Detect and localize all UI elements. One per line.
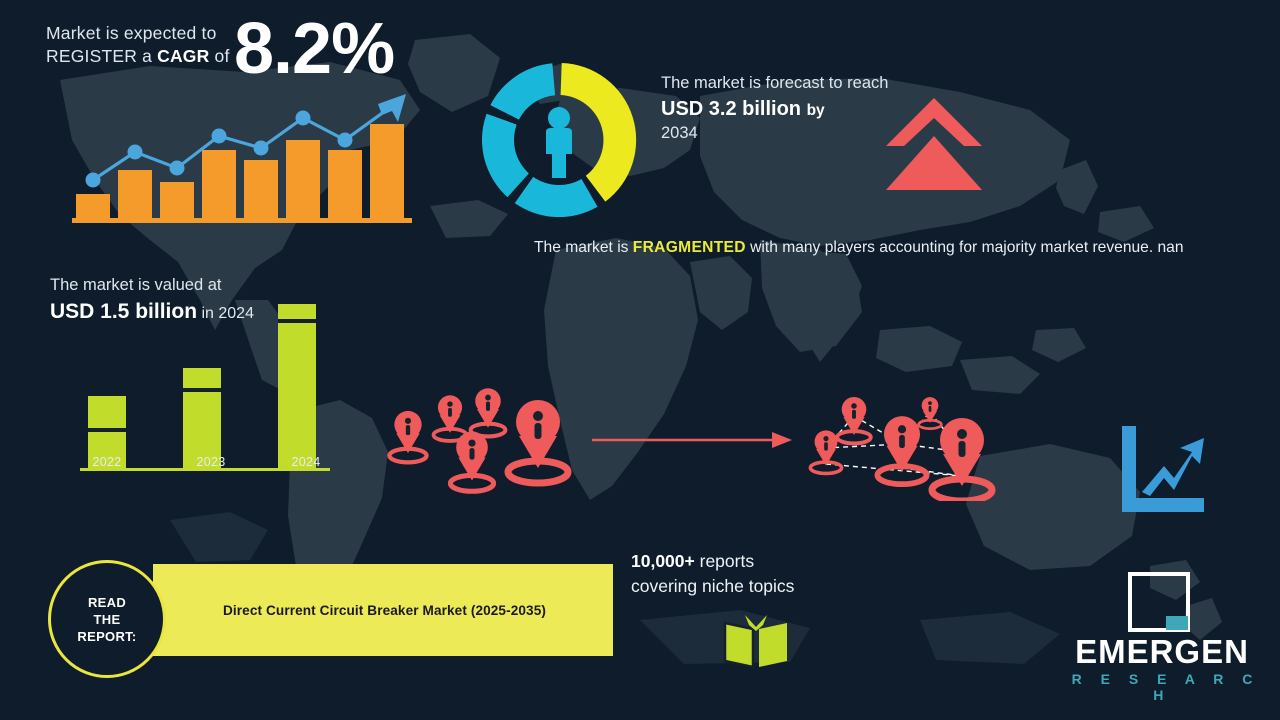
cagr-keyword: CAGR <box>157 46 209 66</box>
bar-2024-divider <box>278 319 316 323</box>
forecast-value-suffix: by <box>807 102 825 119</box>
bar-label-2022: 2022 <box>84 455 130 469</box>
map-pin-person-icon <box>434 395 467 441</box>
map-pin-person-icon <box>508 400 568 483</box>
fragmented-pre: The market is <box>534 239 633 256</box>
bar-2024 <box>278 304 316 468</box>
fragmented-statement: The market is FRAGMENTED with many playe… <box>534 236 1206 259</box>
valued-lead: The market is valued at <box>50 274 380 296</box>
double-chevron-up-icon <box>884 96 984 192</box>
cagr-lead-line2-post: of <box>209 46 229 66</box>
growth-baseline <box>72 218 412 223</box>
forecast-value: USD 3.2 billion by <box>661 97 901 123</box>
infographic-canvas: Market is expected to REGISTER a CAGR of… <box>0 0 1280 720</box>
map-pin-person-icon <box>932 418 992 501</box>
cta-line3: REPORT: <box>77 629 136 644</box>
open-book-icon <box>723 613 789 669</box>
bar-2022-divider <box>88 428 126 432</box>
cagr-value: 8.2% <box>234 6 394 92</box>
bar-label-2024: 2024 <box>283 455 329 469</box>
green-bars <box>88 304 316 468</box>
cagr-lead-line1: Market is expected to <box>46 23 217 43</box>
growth-arrow-head <box>378 94 406 122</box>
person-icon <box>546 107 572 178</box>
bar-2023-divider <box>183 388 221 392</box>
read-report-cta[interactable]: Direct Current Circuit Breaker Market (2… <box>48 560 564 660</box>
green-yearly-value-chart <box>80 296 330 476</box>
fragmented-highlight: FRAGMENTED <box>633 239 746 256</box>
forecast-lead: The market is forecast to reach <box>661 72 901 94</box>
donut-segment-cyan-1 <box>515 177 598 217</box>
cagr-lead-line2-pre: REGISTER a <box>46 46 157 66</box>
line-chart-arrow-icon <box>1118 424 1206 516</box>
map-pin-person-icon <box>471 388 506 436</box>
logo-subtitle: R E S E A R C H <box>1062 671 1262 703</box>
reports-count-block: 10,000+ reports covering niche topics <box>631 549 881 599</box>
map-pin-person-icon <box>837 397 871 443</box>
emergen-research-logo: EMERGEN R E S E A R C H <box>1062 572 1262 698</box>
reports-line1-rest: reports <box>695 551 754 571</box>
donut-segment-cyan-2 <box>482 114 529 198</box>
reports-count: 10,000+ <box>631 551 695 571</box>
fragmented-post: with many players accounting for majorit… <box>746 239 1184 256</box>
cta-line1: READ <box>88 595 126 610</box>
reports-line2: covering niche topics <box>631 574 881 599</box>
donut-segment-cyan-3 <box>490 63 555 119</box>
cagr-lead-text: Market is expected to REGISTER a CAGR of <box>46 22 246 68</box>
map-pin-cluster-right <box>806 386 1006 501</box>
bar-2023 <box>183 368 221 468</box>
cta-line2: THE <box>94 612 121 627</box>
logo-wordmark: EMERGEN <box>1062 634 1262 670</box>
map-pin-person-icon <box>389 411 426 462</box>
read-report-label: READ THE REPORT: <box>77 594 136 645</box>
growth-bars <box>76 124 404 218</box>
cagr-block: Market is expected to REGISTER a CAGR of… <box>46 22 466 68</box>
report-title: Direct Current Circuit Breaker Market (2… <box>223 603 613 618</box>
bar-label-2023: 2023 <box>188 455 234 469</box>
reports-line1: 10,000+ reports <box>631 549 881 574</box>
read-report-circle[interactable]: READ THE REPORT: <box>48 560 166 678</box>
forecast-block: The market is forecast to reach USD 3.2 … <box>661 72 901 144</box>
map-pin-cluster-left <box>380 386 580 496</box>
map-pin-person-icon <box>919 397 942 429</box>
orange-growth-chart <box>72 84 412 226</box>
market-share-donut <box>468 52 650 228</box>
right-arrow-icon <box>592 428 792 452</box>
forecast-year: 2034 <box>661 123 901 144</box>
logo-square-mark <box>1128 572 1190 632</box>
forecast-value-number: USD 3.2 billion <box>661 98 801 120</box>
